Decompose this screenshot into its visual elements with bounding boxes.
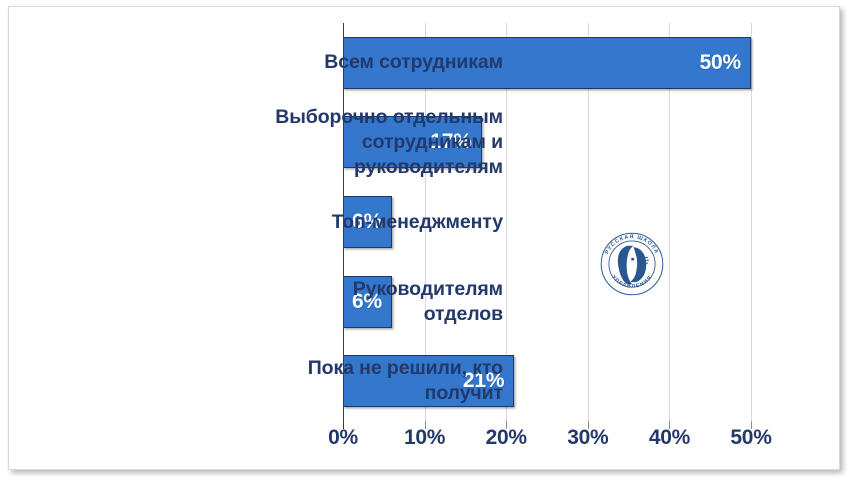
x-tick-label-40: 40% [649,426,690,450]
chart-frame: 50%17%6%6%21% Всем сотрудникамВыборочно … [8,6,840,470]
watermark-text-bottom: УПРАВЛЕНИЯ [610,274,654,290]
x-tick-label-50: 50% [730,426,771,450]
x-tick-label-10: 10% [404,426,445,450]
bar-data-label: 50% [700,51,750,75]
x-axis-labels: 0%10%20%30%40%50% [343,426,751,456]
value-axis-line [343,23,344,421]
watermark-logo: РУССКАЯ ШКОЛА УПРАВЛЕНИЯ [597,229,667,299]
x-tick-label-0: 0% [328,426,358,450]
x-tick-label-20: 20% [486,426,527,450]
gridline-50 [751,23,752,421]
svg-text:УПРАВЛЕНИЯ: УПРАВЛЕНИЯ [610,274,654,290]
x-tick-label-30: 30% [567,426,608,450]
